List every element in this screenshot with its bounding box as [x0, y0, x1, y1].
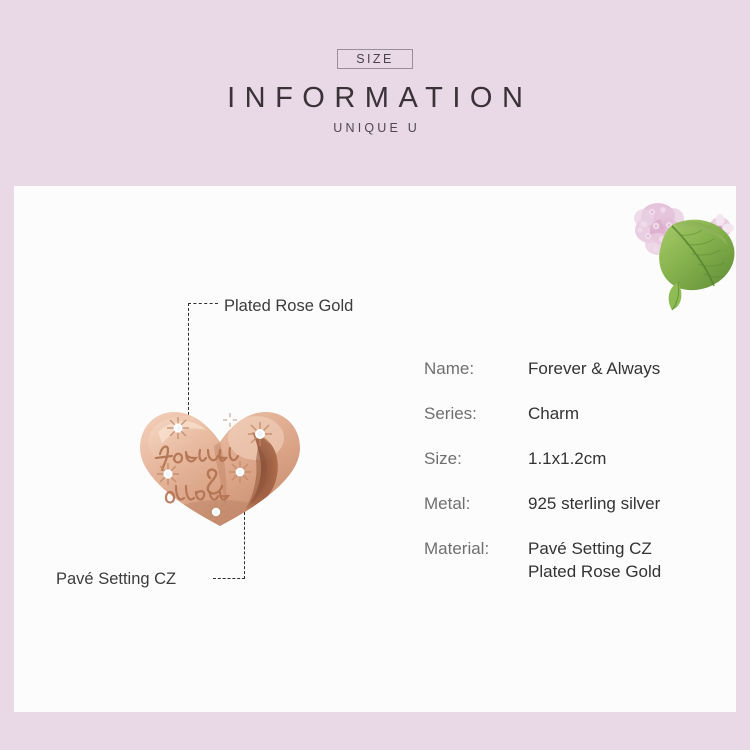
spec-row: Name: Forever & Always — [424, 358, 724, 381]
spec-table: Name: Forever & Always Series: Charm Siz… — [424, 358, 724, 606]
leader-line-top-horizontal — [188, 303, 218, 304]
page-title: INFORMATION — [0, 82, 750, 115]
spec-row: Series: Charm — [424, 403, 724, 426]
leader-line-top-vertical — [188, 303, 189, 415]
spec-label-material: Material: — [424, 538, 528, 559]
annotation-label-plated-rose-gold: Plated Rose Gold — [224, 297, 353, 316]
spec-row: Material: Pavé Setting CZ Plated Rose Go… — [424, 538, 724, 584]
lilac-sprig-icon — [622, 186, 750, 312]
spec-label-size: Size: — [424, 448, 528, 469]
spec-value-size: 1.1x1.2cm — [528, 448, 606, 471]
size-badge: SIZE — [337, 49, 413, 69]
leader-line-bottom-horizontal — [213, 578, 245, 579]
page-subtitle: UNIQUE U — [0, 121, 750, 135]
spec-row: Size: 1.1x1.2cm — [424, 448, 724, 471]
spec-row: Metal: 925 sterling silver — [424, 493, 724, 516]
spec-value-series: Charm — [528, 403, 579, 426]
page-header: SIZE INFORMATION UNIQUE U — [0, 0, 750, 186]
heart-charm-image — [132, 402, 308, 530]
annotation-label-pave-setting-cz: Pavé Setting CZ — [56, 570, 176, 589]
spec-value-metal: 925 sterling silver — [528, 493, 660, 516]
spec-label-metal: Metal: — [424, 493, 528, 514]
spec-label-name: Name: — [424, 358, 528, 379]
spec-value-name: Forever & Always — [528, 358, 660, 381]
page-root: SIZE INFORMATION UNIQUE U — [0, 0, 750, 750]
spec-value-material: Pavé Setting CZ Plated Rose Gold — [528, 538, 661, 584]
spec-label-series: Series: — [424, 403, 528, 424]
